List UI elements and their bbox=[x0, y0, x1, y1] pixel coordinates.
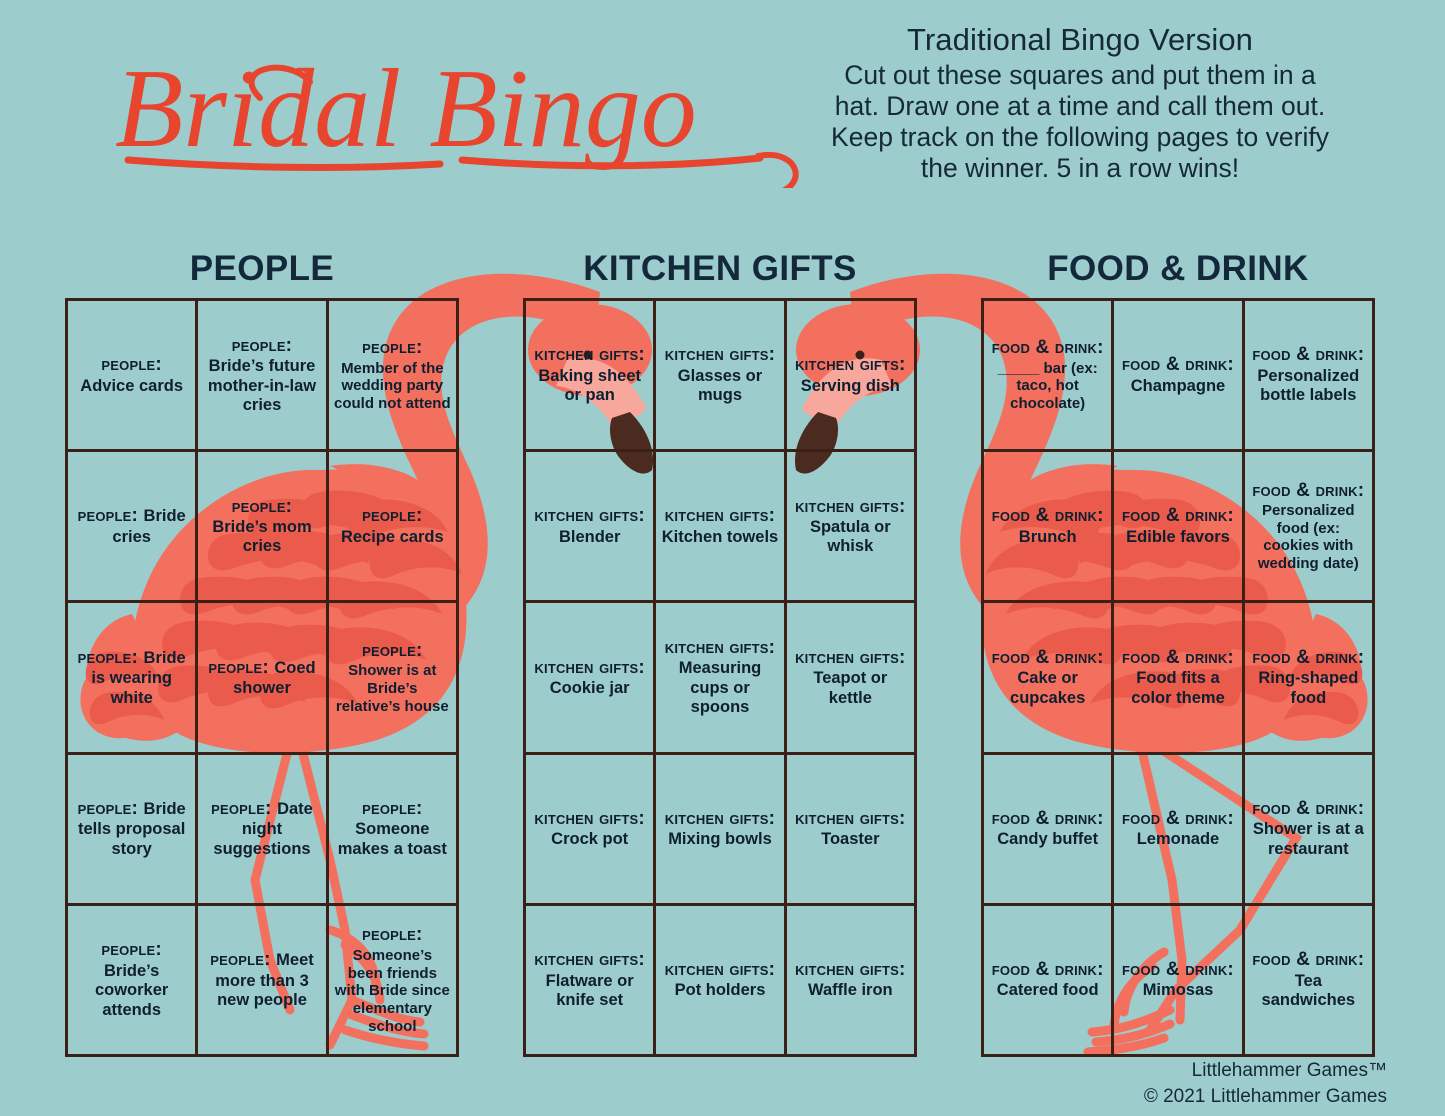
bridal-bingo-script-logo: Bridal Bingo bbox=[110, 38, 810, 188]
bingo-grid-kitchen-gifts: Kitchen Gifts: Baking sheet or panKitche… bbox=[523, 298, 917, 1057]
bingo-cell-kitchen-gifts-3[interactable]: Kitchen Gifts: Serving dish bbox=[787, 301, 917, 452]
bingo-cell-category: Food & Drink: bbox=[1122, 808, 1234, 829]
bingo-cell-category: Food & Drink: bbox=[992, 959, 1104, 980]
bingo-cell-category: People: bbox=[101, 939, 161, 960]
title-text: Bridal Bingo bbox=[115, 47, 697, 171]
bingo-cell-category: Food & Drink: bbox=[1122, 505, 1234, 526]
bingo-cell-category: People: bbox=[210, 949, 276, 970]
bingo-cell-value: Champagne bbox=[1131, 377, 1225, 395]
bingo-cell-value: Member of the wedding party could not at… bbox=[334, 360, 451, 412]
bingo-cell-text: People: Someone makes a toast bbox=[334, 798, 451, 859]
bingo-cell-food-and-drink-3[interactable]: Food & Drink: Personalized bottle labels bbox=[1245, 301, 1375, 452]
bingo-cell-text: Kitchen Gifts: Crock pot bbox=[531, 808, 648, 850]
bingo-cell-category: Kitchen Gifts: bbox=[665, 808, 775, 829]
bingo-cell-text: Kitchen Gifts: Serving dish bbox=[792, 354, 909, 396]
bingo-cell-value: Personalized bottle labels bbox=[1257, 367, 1359, 404]
bingo-cell-text: Kitchen Gifts: Baking sheet or pan bbox=[531, 344, 648, 405]
bingo-cell-value: Mimosas bbox=[1143, 981, 1214, 999]
bingo-cell-value: Spatula or whisk bbox=[810, 518, 891, 555]
bingo-cell-value: Flatware or knife set bbox=[546, 972, 634, 1009]
bingo-cell-value: Tea sandwiches bbox=[1262, 972, 1356, 1009]
bingo-cell-text: People: Bride cries bbox=[73, 505, 190, 547]
bingo-cell-category: Kitchen Gifts: bbox=[795, 354, 905, 375]
bingo-cell-category: Kitchen Gifts: bbox=[665, 637, 775, 658]
bingo-cell-people-4[interactable]: People: Bride cries bbox=[68, 452, 198, 603]
bingo-cell-category: Food & Drink: bbox=[1252, 344, 1364, 365]
bingo-cell-category: Kitchen Gifts: bbox=[795, 959, 905, 980]
bingo-cell-kitchen-gifts-10[interactable]: Kitchen Gifts: Crock pot bbox=[526, 755, 656, 906]
bingo-cell-value: Bride’s future mother-in-law cries bbox=[208, 357, 316, 414]
bingo-cell-people-15[interactable]: People: Someone’s been friends with Brid… bbox=[329, 906, 459, 1057]
bingo-cell-people-12[interactable]: People: Someone makes a toast bbox=[329, 755, 459, 906]
bingo-cell-category: Food & Drink: bbox=[992, 337, 1104, 358]
bingo-cell-category: Food & Drink: bbox=[1252, 647, 1364, 668]
page-title: Bridal Bingo bbox=[110, 38, 810, 188]
bingo-grid-people: People: Advice cardsPeople: Bride’s futu… bbox=[65, 298, 459, 1057]
bingo-cell-food-and-drink-8[interactable]: Food & Drink: Food fits a color theme bbox=[1114, 603, 1244, 754]
bingo-cell-people-3[interactable]: People: Member of the wedding party coul… bbox=[329, 301, 459, 452]
bingo-cell-food-and-drink-11[interactable]: Food & Drink: Lemonade bbox=[1114, 755, 1244, 906]
bingo-cell-value: Pot holders bbox=[675, 981, 766, 999]
column-heading-kitchen-gifts: KITCHEN GIFTS bbox=[523, 249, 917, 289]
bingo-cell-kitchen-gifts-4[interactable]: Kitchen Gifts: Blender bbox=[526, 452, 656, 603]
bingo-cell-text: Food & Drink: Ring-shaped food bbox=[1250, 647, 1367, 708]
bingo-cell-category: People: bbox=[208, 657, 274, 678]
bingo-cell-text: People: Bride is wearing white bbox=[73, 647, 190, 708]
bingo-cell-text: Food & Drink: Personalized food (ex: coo… bbox=[1250, 480, 1367, 573]
bingo-cell-text: Food & Drink: Cake or cupcakes bbox=[989, 647, 1106, 708]
bingo-cell-category: People: bbox=[362, 337, 422, 358]
bingo-cell-text: Kitchen Gifts: Flatware or knife set bbox=[531, 949, 648, 1010]
bingo-cell-value: Brunch bbox=[1019, 528, 1077, 546]
bingo-cell-value: Crock pot bbox=[551, 830, 628, 848]
bingo-cell-food-and-drink-9[interactable]: Food & Drink: Ring-shaped food bbox=[1245, 603, 1375, 754]
bingo-cell-value: Advice cards bbox=[80, 377, 183, 395]
bingo-cell-text: Food & Drink: Edible favors bbox=[1119, 505, 1236, 547]
bingo-cell-food-and-drink-1[interactable]: Food & Drink: _____ bar (ex: taco, hot c… bbox=[984, 301, 1114, 452]
bingo-cell-value: Candy buffet bbox=[997, 830, 1098, 848]
bingo-cell-category: Kitchen Gifts: bbox=[534, 949, 644, 970]
bingo-cell-value: Toaster bbox=[821, 830, 879, 848]
bingo-cell-text: Kitchen Gifts: Waffle iron bbox=[792, 959, 909, 1001]
bingo-cell-people-11[interactable]: People: Date night suggestions bbox=[198, 755, 328, 906]
bingo-cell-text: People: Bride’s future mother-in-law cri… bbox=[203, 335, 320, 416]
bingo-cell-category: Food & Drink: bbox=[1122, 647, 1234, 668]
bingo-cell-category: People: bbox=[78, 798, 144, 819]
bingo-cell-value: Blender bbox=[559, 528, 620, 546]
bingo-cell-value: Shower is at a restaurant bbox=[1253, 820, 1364, 857]
instructions-body: Cut out these squares and put them in a … bbox=[830, 60, 1330, 185]
bingo-cell-value: Baking sheet or pan bbox=[538, 367, 641, 404]
bingo-cell-kitchen-gifts-9[interactable]: Kitchen Gifts: Teapot or kettle bbox=[787, 603, 917, 754]
bingo-cell-food-and-drink-12[interactable]: Food & Drink: Shower is at a restaurant bbox=[1245, 755, 1375, 906]
bingo-cell-category: Kitchen Gifts: bbox=[534, 505, 644, 526]
bingo-cell-category: Food & Drink: bbox=[992, 505, 1104, 526]
bingo-cell-category: Food & Drink: bbox=[1122, 354, 1234, 375]
bingo-cell-text: People: Someone’s been friends with Brid… bbox=[334, 924, 451, 1035]
bingo-cell-text: Food & Drink: Personalized bottle labels bbox=[1250, 344, 1367, 405]
bingo-cell-kitchen-gifts-8[interactable]: Kitchen Gifts: Measuring cups or spoons bbox=[656, 603, 786, 754]
bingo-cell-value: Someone’s been friends with Bride since … bbox=[335, 947, 450, 1035]
bingo-cell-text: Food & Drink: Food fits a color theme bbox=[1119, 647, 1236, 708]
bingo-grid-food-and-drink: Food & Drink: _____ bar (ex: taco, hot c… bbox=[981, 298, 1375, 1057]
bingo-cell-text: People: Date night suggestions bbox=[203, 798, 320, 859]
bingo-cell-category: Food & Drink: bbox=[1252, 480, 1364, 501]
bingo-cell-value: Bride’s mom cries bbox=[212, 518, 311, 555]
bingo-cell-category: Kitchen Gifts: bbox=[665, 959, 775, 980]
bingo-cell-category: Kitchen Gifts: bbox=[534, 657, 644, 678]
bingo-cell-people-7[interactable]: People: Bride is wearing white bbox=[68, 603, 198, 754]
bingo-cell-food-and-drink-6[interactable]: Food & Drink: Personalized food (ex: coo… bbox=[1245, 452, 1375, 603]
bingo-cell-text: Kitchen Gifts: Cookie jar bbox=[531, 657, 648, 699]
bingo-cell-text: Kitchen Gifts: Pot holders bbox=[661, 959, 778, 1001]
bingo-cell-text: Kitchen Gifts: Blender bbox=[531, 505, 648, 547]
bingo-cell-value: Mixing bowls bbox=[668, 830, 772, 848]
column-heading-food-and-drink: FOOD & DRINK bbox=[981, 249, 1375, 289]
bingo-cell-category: People: bbox=[101, 354, 161, 375]
bingo-cell-category: People: bbox=[78, 505, 144, 526]
bingo-cell-value: Lemonade bbox=[1137, 830, 1220, 848]
bingo-cell-value: Catered food bbox=[997, 981, 1099, 999]
bingo-cell-value: Someone makes a toast bbox=[338, 820, 447, 857]
bingo-cell-value: Personalized food (ex: cookies with wedd… bbox=[1258, 502, 1359, 572]
bridal-bingo-page: Bridal Bingo Traditional Bingo Version C… bbox=[0, 0, 1445, 1116]
bingo-cell-text: Kitchen Gifts: Glasses or mugs bbox=[661, 344, 778, 405]
bingo-cell-category: People: bbox=[362, 505, 422, 526]
bingo-cell-text: Kitchen Gifts: Mixing bowls bbox=[661, 808, 778, 850]
bingo-cell-category: Kitchen Gifts: bbox=[795, 496, 905, 517]
instructions-block: Traditional Bingo Version Cut out these … bbox=[830, 22, 1330, 185]
bingo-cell-value: Recipe cards bbox=[341, 528, 444, 546]
bingo-cell-food-and-drink-14[interactable]: Food & Drink: Mimosas bbox=[1114, 906, 1244, 1057]
bingo-cell-text: Food & Drink: Shower is at a restaurant bbox=[1250, 798, 1367, 859]
bingo-cell-value: Measuring cups or spoons bbox=[679, 659, 762, 716]
bingo-cell-people-13[interactable]: People: Bride’s coworker attends bbox=[68, 906, 198, 1057]
bingo-cell-value: Ring-shaped food bbox=[1258, 669, 1358, 706]
bingo-cell-text: Food & Drink: Mimosas bbox=[1119, 959, 1236, 1001]
bingo-cell-people-8[interactable]: People: Coed shower bbox=[198, 603, 328, 754]
bingo-cell-kitchen-gifts-1[interactable]: Kitchen Gifts: Baking sheet or pan bbox=[526, 301, 656, 452]
footer-brand: Littlehammer Games™ bbox=[1144, 1058, 1387, 1084]
bingo-cell-category: Food & Drink: bbox=[1252, 798, 1364, 819]
footer-copyright: © 2021 Littlehammer Games bbox=[1144, 1084, 1387, 1110]
bingo-cell-text: People: Bride tells proposal story bbox=[73, 798, 190, 859]
bingo-cell-kitchen-gifts-5[interactable]: Kitchen Gifts: Kitchen towels bbox=[656, 452, 786, 603]
bingo-cell-value: Edible favors bbox=[1126, 528, 1230, 546]
bingo-cell-text: Food & Drink: _____ bar (ex: taco, hot c… bbox=[989, 337, 1106, 412]
bingo-cell-category: Kitchen Gifts: bbox=[534, 808, 644, 829]
bingo-cell-food-and-drink-10[interactable]: Food & Drink: Candy buffet bbox=[984, 755, 1114, 906]
bingo-cell-people-6[interactable]: People: Recipe cards bbox=[329, 452, 459, 603]
bingo-cell-category: People: bbox=[232, 496, 292, 517]
bingo-cell-category: People: bbox=[362, 798, 422, 819]
bingo-cell-kitchen-gifts-2[interactable]: Kitchen Gifts: Glasses or mugs bbox=[656, 301, 786, 452]
bingo-cell-people-5[interactable]: People: Bride’s mom cries bbox=[198, 452, 328, 603]
bingo-cell-people-2[interactable]: People: Bride’s future mother-in-law cri… bbox=[198, 301, 328, 452]
bingo-cell-kitchen-gifts-6[interactable]: Kitchen Gifts: Spatula or whisk bbox=[787, 452, 917, 603]
bingo-cell-value: Glasses or mugs bbox=[678, 367, 762, 404]
bingo-cell-category: Food & Drink: bbox=[992, 647, 1104, 668]
bingo-cell-value: Food fits a color theme bbox=[1131, 669, 1225, 706]
bingo-cell-value: Serving dish bbox=[801, 377, 900, 395]
bingo-cell-category: Kitchen Gifts: bbox=[795, 647, 905, 668]
instructions-title: Traditional Bingo Version bbox=[830, 22, 1330, 59]
bingo-cell-category: People: bbox=[78, 647, 144, 668]
bingo-cell-value: Shower is at Bride’s relative’s house bbox=[336, 662, 449, 714]
bingo-cell-text: People: Member of the wedding party coul… bbox=[334, 337, 451, 412]
bingo-cell-food-and-drink-2[interactable]: Food & Drink: Champagne bbox=[1114, 301, 1244, 452]
bingo-cell-category: Kitchen Gifts: bbox=[665, 344, 775, 365]
bingo-cell-kitchen-gifts-7[interactable]: Kitchen Gifts: Cookie jar bbox=[526, 603, 656, 754]
bingo-cell-text: Food & Drink: Tea sandwiches bbox=[1250, 949, 1367, 1010]
bingo-cell-value: Kitchen towels bbox=[662, 528, 778, 546]
bingo-cell-food-and-drink-13[interactable]: Food & Drink: Catered food bbox=[984, 906, 1114, 1057]
bingo-cell-food-and-drink-5[interactable]: Food & Drink: Edible favors bbox=[1114, 452, 1244, 603]
bingo-cell-category: People: bbox=[232, 335, 292, 356]
bingo-cell-text: Food & Drink: Catered food bbox=[989, 959, 1106, 1001]
bingo-cell-text: Kitchen Gifts: Teapot or kettle bbox=[792, 647, 909, 708]
column-heading-people: PEOPLE bbox=[65, 249, 459, 289]
bingo-cell-category: Food & Drink: bbox=[1252, 949, 1364, 970]
bingo-cell-category: People: bbox=[211, 798, 277, 819]
bingo-cell-category: Food & Drink: bbox=[1122, 959, 1234, 980]
bingo-cell-value: Teapot or kettle bbox=[813, 669, 887, 706]
bingo-cell-people-1[interactable]: People: Advice cards bbox=[68, 301, 198, 452]
bingo-cell-food-and-drink-15[interactable]: Food & Drink: Tea sandwiches bbox=[1245, 906, 1375, 1057]
bingo-cell-value: _____ bar (ex: taco, hot chocolate) bbox=[998, 360, 1098, 412]
bingo-cell-kitchen-gifts-12[interactable]: Kitchen Gifts: Toaster bbox=[787, 755, 917, 906]
bingo-cell-category: People: bbox=[362, 924, 422, 945]
bingo-cell-value: Bride’s coworker attends bbox=[95, 962, 168, 1019]
bingo-cell-text: Food & Drink: Champagne bbox=[1119, 354, 1236, 396]
bingo-cell-people-10[interactable]: People: Bride tells proposal story bbox=[68, 755, 198, 906]
bingo-cell-people-14[interactable]: People: Meet more than 3 new people bbox=[198, 906, 328, 1057]
bingo-cell-text: Kitchen Gifts: Measuring cups or spoons bbox=[661, 637, 778, 718]
bingo-cell-food-and-drink-4[interactable]: Food & Drink: Brunch bbox=[984, 452, 1114, 603]
bingo-cell-kitchen-gifts-11[interactable]: Kitchen Gifts: Mixing bowls bbox=[656, 755, 786, 906]
bingo-cell-category: Kitchen Gifts: bbox=[795, 808, 905, 829]
footer: Littlehammer Games™ © 2021 Littlehammer … bbox=[1144, 1058, 1387, 1109]
bingo-cell-category: People: bbox=[362, 640, 422, 661]
bingo-cell-text: Food & Drink: Candy buffet bbox=[989, 808, 1106, 850]
bingo-cell-text: People: Bride’s mom cries bbox=[203, 496, 320, 557]
bingo-cell-kitchen-gifts-14[interactable]: Kitchen Gifts: Pot holders bbox=[656, 906, 786, 1057]
bingo-cell-food-and-drink-7[interactable]: Food & Drink: Cake or cupcakes bbox=[984, 603, 1114, 754]
bingo-cell-people-9[interactable]: People: Shower is at Bride’s relative’s … bbox=[329, 603, 459, 754]
bingo-cell-text: Kitchen Gifts: Spatula or whisk bbox=[792, 496, 909, 557]
bingo-cell-text: People: Meet more than 3 new people bbox=[203, 949, 320, 1010]
bingo-cell-text: People: Shower is at Bride’s relative’s … bbox=[334, 640, 451, 715]
bingo-cell-text: People: Recipe cards bbox=[334, 505, 451, 547]
bingo-cell-kitchen-gifts-15[interactable]: Kitchen Gifts: Waffle iron bbox=[787, 906, 917, 1057]
bingo-cell-text: Food & Drink: Lemonade bbox=[1119, 808, 1236, 850]
bingo-cell-text: People: Advice cards bbox=[73, 354, 190, 396]
bingo-cell-value: Waffle iron bbox=[808, 981, 893, 999]
bingo-cell-text: People: Coed shower bbox=[203, 657, 320, 699]
bingo-cell-value: Cake or cupcakes bbox=[1010, 669, 1085, 706]
bingo-cell-text: Kitchen Gifts: Toaster bbox=[792, 808, 909, 850]
bingo-cell-category: Kitchen Gifts: bbox=[665, 505, 775, 526]
bingo-cell-category: Kitchen Gifts: bbox=[534, 344, 644, 365]
bingo-cell-text: Food & Drink: Brunch bbox=[989, 505, 1106, 547]
bingo-cell-value: Cookie jar bbox=[550, 679, 630, 697]
bingo-cell-text: Kitchen Gifts: Kitchen towels bbox=[661, 505, 778, 547]
bingo-cell-category: Food & Drink: bbox=[992, 808, 1104, 829]
bingo-cell-text: People: Bride’s coworker attends bbox=[73, 939, 190, 1020]
bingo-cell-kitchen-gifts-13[interactable]: Kitchen Gifts: Flatware or knife set bbox=[526, 906, 656, 1057]
